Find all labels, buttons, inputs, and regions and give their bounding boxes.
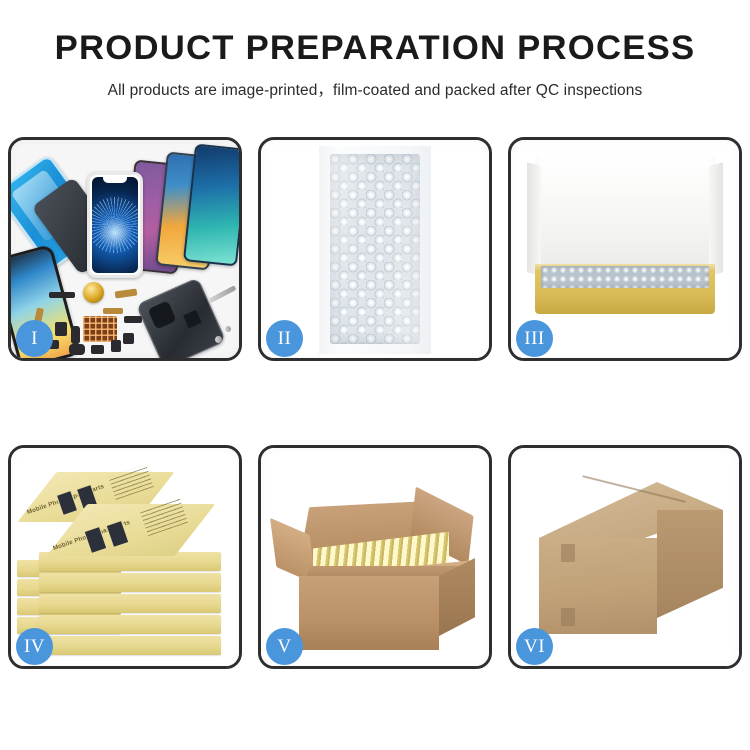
product-preparation-infographic: PRODUCT PREPARATION PROCESS All products… — [0, 0, 750, 750]
step-badge-1: I — [16, 320, 53, 357]
step-panel-2: II — [258, 137, 492, 361]
step-panel-6: VI — [508, 445, 742, 669]
page-title: PRODUCT PREPARATION PROCESS — [0, 30, 750, 67]
step-panel-4: Mobile Phone Spare Parts Mobile Phone Sp… — [8, 445, 242, 669]
sealed-carton-side-face — [657, 510, 723, 618]
screw-part — [215, 336, 222, 343]
steps-grid: I II III — [8, 137, 742, 669]
step-panel-1: I — [8, 137, 242, 361]
step-panel-3: III — [508, 137, 742, 361]
step-badge-3: III — [516, 320, 553, 357]
step-badge-6: VI — [516, 628, 553, 665]
stacked-box — [39, 615, 221, 634]
header: PRODUCT PREPARATION PROCESS All products… — [0, 0, 750, 100]
copper-coil-part — [83, 282, 104, 303]
mesh-grid-part — [83, 316, 117, 342]
sealed-carton-tape — [561, 544, 575, 562]
spare-part — [71, 326, 80, 344]
step-panel-5: V — [258, 445, 492, 669]
stacked-box — [39, 573, 221, 592]
spare-part — [49, 292, 75, 298]
spare-part — [91, 345, 104, 354]
bubble-wrap-sheen — [330, 154, 420, 344]
phone-screen-blue — [92, 177, 138, 273]
sealed-carton-tape — [561, 608, 575, 626]
phone-notch-icon — [103, 177, 127, 183]
spare-part — [124, 316, 142, 323]
stacked-box — [39, 636, 221, 655]
box-lid-white — [535, 156, 715, 278]
spare-part — [55, 322, 67, 336]
flex-cable-part — [103, 308, 123, 314]
spare-part — [69, 344, 85, 355]
flex-cable-part — [115, 289, 138, 299]
step-badge-4: IV — [16, 628, 53, 665]
phone-white-front — [87, 172, 143, 278]
tool-part — [208, 285, 237, 303]
screw-part — [225, 326, 231, 332]
bubble-wrapped-contents — [541, 266, 709, 288]
spare-part — [123, 333, 134, 344]
stacked-box — [39, 594, 221, 613]
page-subtitle: All products are image-printed，film-coat… — [0, 78, 750, 100]
phone-back-housing — [136, 277, 227, 358]
sealed-carton-front-face — [539, 538, 657, 634]
step-badge-2: II — [266, 320, 303, 357]
step-badge-5: V — [266, 628, 303, 665]
carton-front-face — [299, 576, 439, 650]
spare-part — [111, 340, 121, 352]
